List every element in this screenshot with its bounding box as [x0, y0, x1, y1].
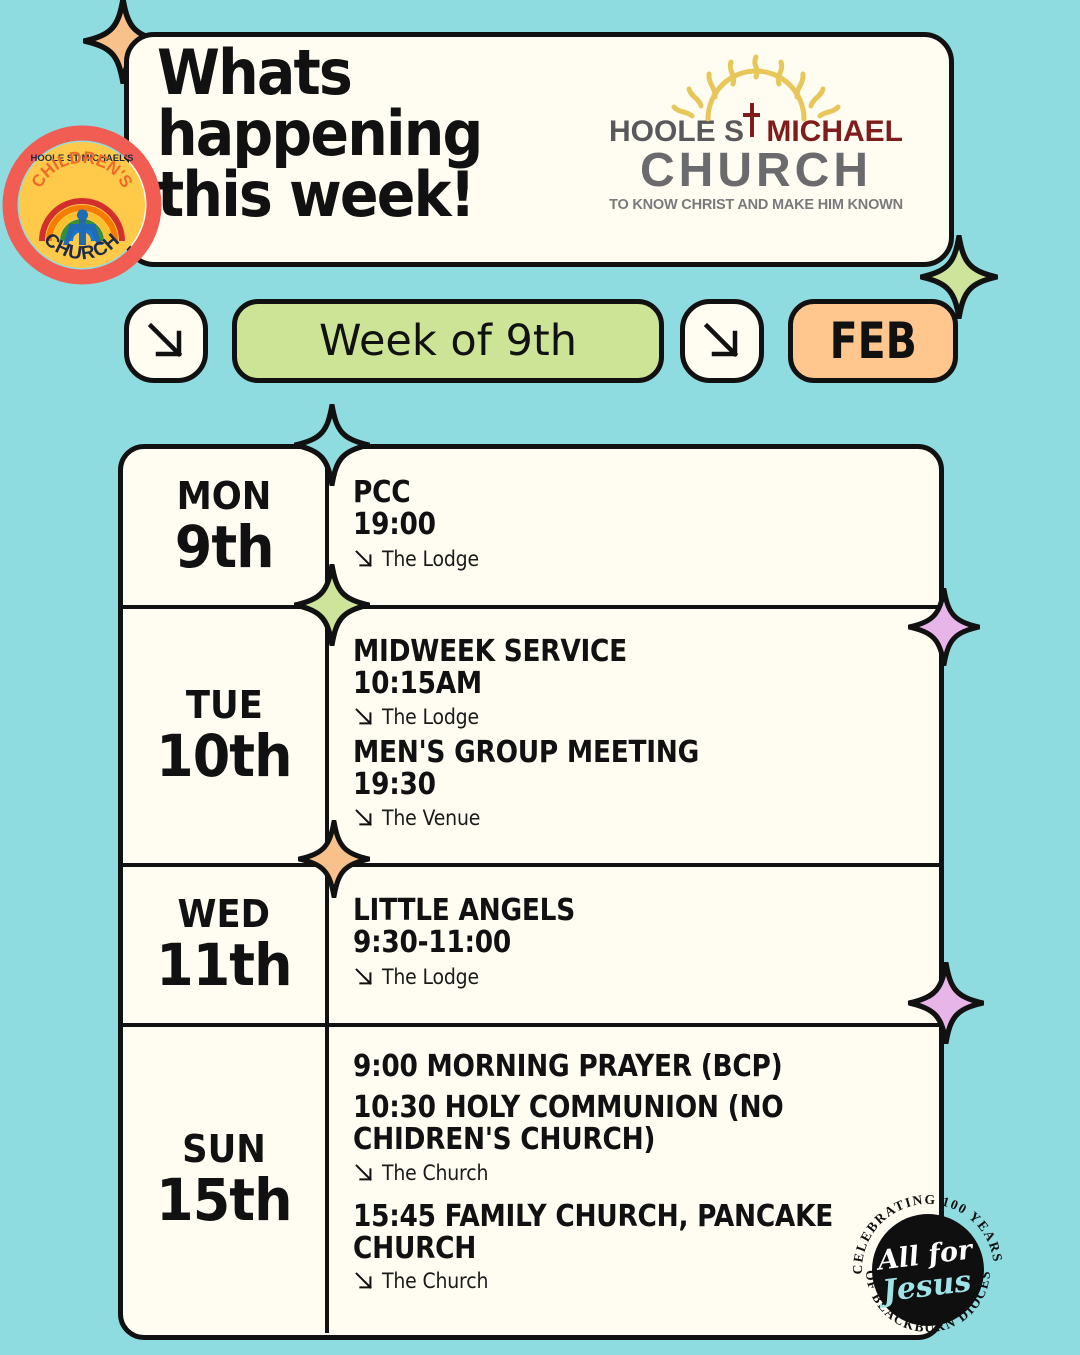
- event-location: The Venue: [353, 806, 921, 830]
- arrow-pill-right[interactable]: [680, 299, 764, 383]
- week-selector-row: Week of 9th FEB: [124, 299, 959, 383]
- event-location-text: The Lodge: [382, 547, 479, 571]
- day-cell-tue: TUE 10th: [123, 609, 329, 863]
- schedule-row-sun: SUN 15th 9:00 MORNING PRAYER (BCP) 10:30…: [123, 1027, 939, 1333]
- event-location: The Lodge: [353, 547, 921, 571]
- event-location-text: The Church: [382, 1269, 488, 1293]
- day-cell-wed: WED 11th: [123, 867, 329, 1023]
- event-item: MIDWEEK SERVICE 10:15AM The Lodge: [353, 636, 921, 735]
- day-cell-mon: MON 9th: [123, 449, 329, 605]
- arrow-down-right-icon: [144, 319, 188, 363]
- event-item: 10:30 HOLY COMMUNION (NO CHIDREN'S CHURC…: [353, 1092, 921, 1191]
- childrens-church-badge: HOOLE ST MICHAEL'S CHILDREN'S CHURCH: [2, 125, 162, 285]
- page-title-line-1: Whats: [157, 43, 543, 104]
- page-title: Whats happening this week!: [157, 43, 543, 225]
- events-cell-tue: MIDWEEK SERVICE 10:15AM The Lodge MEN'S …: [329, 609, 939, 863]
- diocese-centenary-badge: CELEBRATING 100 YEARS · · OF BLACKBURN D…: [848, 1190, 1008, 1350]
- arrow-down-right-icon: [353, 1270, 375, 1292]
- event-location: The Church: [353, 1161, 921, 1185]
- event-location: The Lodge: [353, 965, 921, 989]
- event-location-text: The Church: [382, 1161, 488, 1185]
- weekly-schedule-table: MON 9th PCC 19:00 The Lodge TUE 10th: [118, 444, 944, 1340]
- event-title: 9:00 MORNING PRAYER (BCP): [353, 1051, 853, 1083]
- event-time: 10:15AM: [353, 668, 853, 700]
- schedule-row-wed: WED 11th LITTLE ANGELS 9:30-11:00 The Lo…: [123, 867, 939, 1027]
- schedule-row-tue: TUE 10th MIDWEEK SERVICE 10:15AM The Lod…: [123, 609, 939, 867]
- event-location-text: The Venue: [382, 806, 480, 830]
- month-label: FEB: [829, 312, 916, 370]
- arrow-down-right-icon: [353, 548, 375, 570]
- event-time: 19:30: [353, 769, 853, 801]
- day-name: TUE: [186, 686, 263, 726]
- arrow-down-right-icon: [353, 966, 375, 988]
- event-location-text: The Lodge: [382, 705, 479, 729]
- event-time: 19:00: [353, 509, 853, 541]
- event-title: LITTLE ANGELS: [353, 895, 853, 927]
- event-location: The Church: [353, 1269, 921, 1293]
- arrow-pill-left[interactable]: [124, 299, 208, 383]
- day-number: 11th: [156, 935, 292, 996]
- event-title: MEN'S GROUP MEETING: [353, 737, 853, 769]
- event-location: The Lodge: [353, 705, 921, 729]
- arrow-down-right-icon: [353, 1162, 375, 1184]
- month-pill[interactable]: FEB: [788, 299, 958, 383]
- header-card: Whats happening this week!: [124, 32, 954, 267]
- arrow-down-right-icon: [353, 807, 375, 829]
- event-title: MIDWEEK SERVICE: [353, 636, 853, 668]
- arrow-down-right-icon: [700, 319, 744, 363]
- page-title-line-2: happening: [157, 104, 543, 165]
- day-name: WED: [178, 895, 270, 935]
- event-location-text: The Lodge: [382, 965, 479, 989]
- day-name: MON: [177, 477, 272, 517]
- event-title: PCC: [353, 477, 853, 509]
- week-pill[interactable]: Week of 9th: [232, 299, 664, 383]
- event-title: 15:45 FAMILY CHURCH, PANCAKE CHURCH: [353, 1201, 853, 1265]
- event-item: PCC 19:00 The Lodge: [353, 477, 921, 576]
- event-item: MEN'S GROUP MEETING 19:30 The Venue: [353, 737, 921, 836]
- day-number: 15th: [156, 1170, 292, 1231]
- church-logo-cross-icon: T: [744, 117, 758, 147]
- page-title-line-3: this week!: [157, 165, 543, 226]
- event-item: 9:00 MORNING PRAYER (BCP): [353, 1051, 921, 1083]
- day-cell-sun: SUN 15th: [123, 1027, 329, 1333]
- week-label: Week of 9th: [319, 316, 577, 366]
- arrow-down-right-icon: [353, 706, 375, 728]
- event-item: LITTLE ANGELS 9:30-11:00 The Lodge: [353, 895, 921, 994]
- events-cell-wed: LITTLE ANGELS 9:30-11:00 The Lodge: [329, 867, 939, 1023]
- schedule-row-mon: MON 9th PCC 19:00 The Lodge: [123, 449, 939, 609]
- day-number: 9th: [175, 517, 274, 578]
- day-number: 10th: [156, 726, 292, 787]
- church-logo-word-church: CHURCH: [591, 147, 921, 196]
- event-item: 15:45 FAMILY CHURCH, PANCAKE CHURCH The …: [353, 1201, 921, 1300]
- church-logo-tagline: TO KNOW CHRIST AND MAKE HIM KNOWN: [591, 197, 921, 213]
- church-logo: HOOLE ST MICHAEL CHURCH TO KNOW CHRIST A…: [591, 51, 921, 213]
- events-cell-mon: PCC 19:00 The Lodge: [329, 449, 939, 605]
- event-title: 10:30 HOLY COMMUNION (NO CHIDREN'S CHURC…: [353, 1092, 853, 1156]
- day-name: SUN: [182, 1130, 266, 1170]
- event-time: 9:30-11:00: [353, 927, 853, 959]
